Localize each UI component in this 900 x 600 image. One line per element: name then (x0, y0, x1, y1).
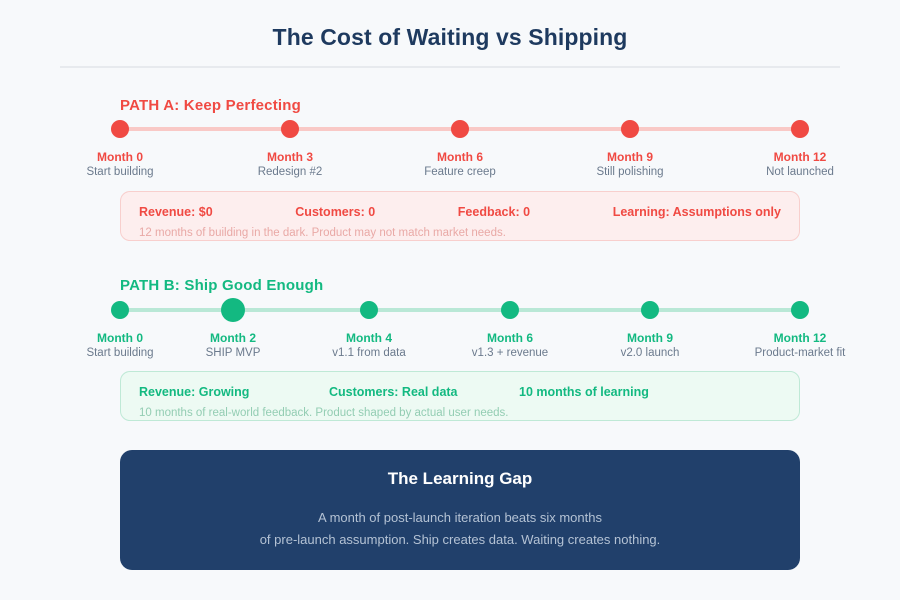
path-a-timeline: Month 0Start buildingMonth 3Redesign #2M… (0, 120, 900, 180)
metric-item: 10 months of learning (519, 385, 709, 399)
metric-item: Customers: 0 (295, 205, 375, 219)
milestone-dot-icon (791, 301, 809, 319)
infographic-canvas: The Cost of Waiting vs Shipping PATH A: … (0, 0, 900, 600)
milestone-dot-icon (281, 120, 299, 138)
path-a-metrics-box: Revenue: $0Customers: 0Feedback: 0Learni… (120, 191, 800, 241)
node-month-label: Month 6 (487, 331, 533, 345)
node-description: Product-market fit (755, 347, 846, 359)
milestone-dot-icon (621, 120, 639, 138)
node-description: SHIP MVP (206, 347, 261, 359)
path-a-metrics-row: Revenue: $0Customers: 0Feedback: 0Learni… (139, 204, 781, 220)
path-b-metrics-row: Revenue: GrowingCustomers: Real data10 m… (139, 384, 781, 400)
metric-item: Feedback: 0 (458, 205, 530, 219)
milestone-dot-icon (501, 301, 519, 319)
node-description: Still polishing (596, 166, 663, 178)
metric-item: Revenue: Growing (139, 385, 329, 399)
header-divider (60, 66, 840, 68)
metric-item: Revenue: $0 (139, 205, 213, 219)
node-description: v1.1 from data (332, 347, 406, 359)
node-description: Not launched (766, 166, 834, 178)
callout-title: The Learning Gap (120, 469, 800, 489)
page-title: The Cost of Waiting vs Shipping (0, 24, 900, 51)
node-description: v2.0 launch (621, 347, 680, 359)
milestone-dot-icon (791, 120, 809, 138)
path-b-label: PATH B: Ship Good Enough (120, 277, 323, 294)
path-a-note: 12 months of building in the dark. Produ… (139, 227, 781, 239)
node-description: Start building (86, 347, 153, 359)
metric-item: Learning: Assumptions only (613, 205, 781, 219)
milestone-dot-icon (221, 298, 245, 322)
node-description: Feature creep (424, 166, 496, 178)
node-month-label: Month 0 (97, 331, 143, 345)
milestone-dot-icon (451, 120, 469, 138)
path-b-metrics-box: Revenue: GrowingCustomers: Real data10 m… (120, 371, 800, 421)
node-month-label: Month 2 (210, 331, 256, 345)
node-month-label: Month 6 (437, 150, 483, 164)
node-month-label: Month 3 (267, 150, 313, 164)
learning-gap-callout: The Learning Gap A month of post-launch … (120, 450, 800, 570)
path-a-label: PATH A: Keep Perfecting (120, 97, 301, 114)
node-month-label: Month 9 (607, 150, 653, 164)
node-month-label: Month 4 (346, 331, 392, 345)
node-month-label: Month 9 (627, 331, 673, 345)
node-month-label: Month 0 (97, 150, 143, 164)
path-b-note: 10 months of real-world feedback. Produc… (139, 407, 781, 419)
milestone-dot-icon (111, 301, 129, 319)
node-month-label: Month 12 (774, 150, 827, 164)
callout-line-1: A month of post-launch iteration beats s… (120, 507, 800, 529)
node-month-label: Month 12 (774, 331, 827, 345)
milestone-dot-icon (111, 120, 129, 138)
milestone-dot-icon (641, 301, 659, 319)
node-description: Start building (86, 166, 153, 178)
node-description: Redesign #2 (258, 166, 323, 178)
metric-item: Customers: Real data (329, 385, 519, 399)
path-b-timeline: Month 0Start buildingMonth 2SHIP MVPMont… (0, 301, 900, 361)
milestone-dot-icon (360, 301, 378, 319)
node-description: v1.3 + revenue (472, 347, 548, 359)
callout-line-2: of pre-launch assumption. Ship creates d… (120, 529, 800, 551)
